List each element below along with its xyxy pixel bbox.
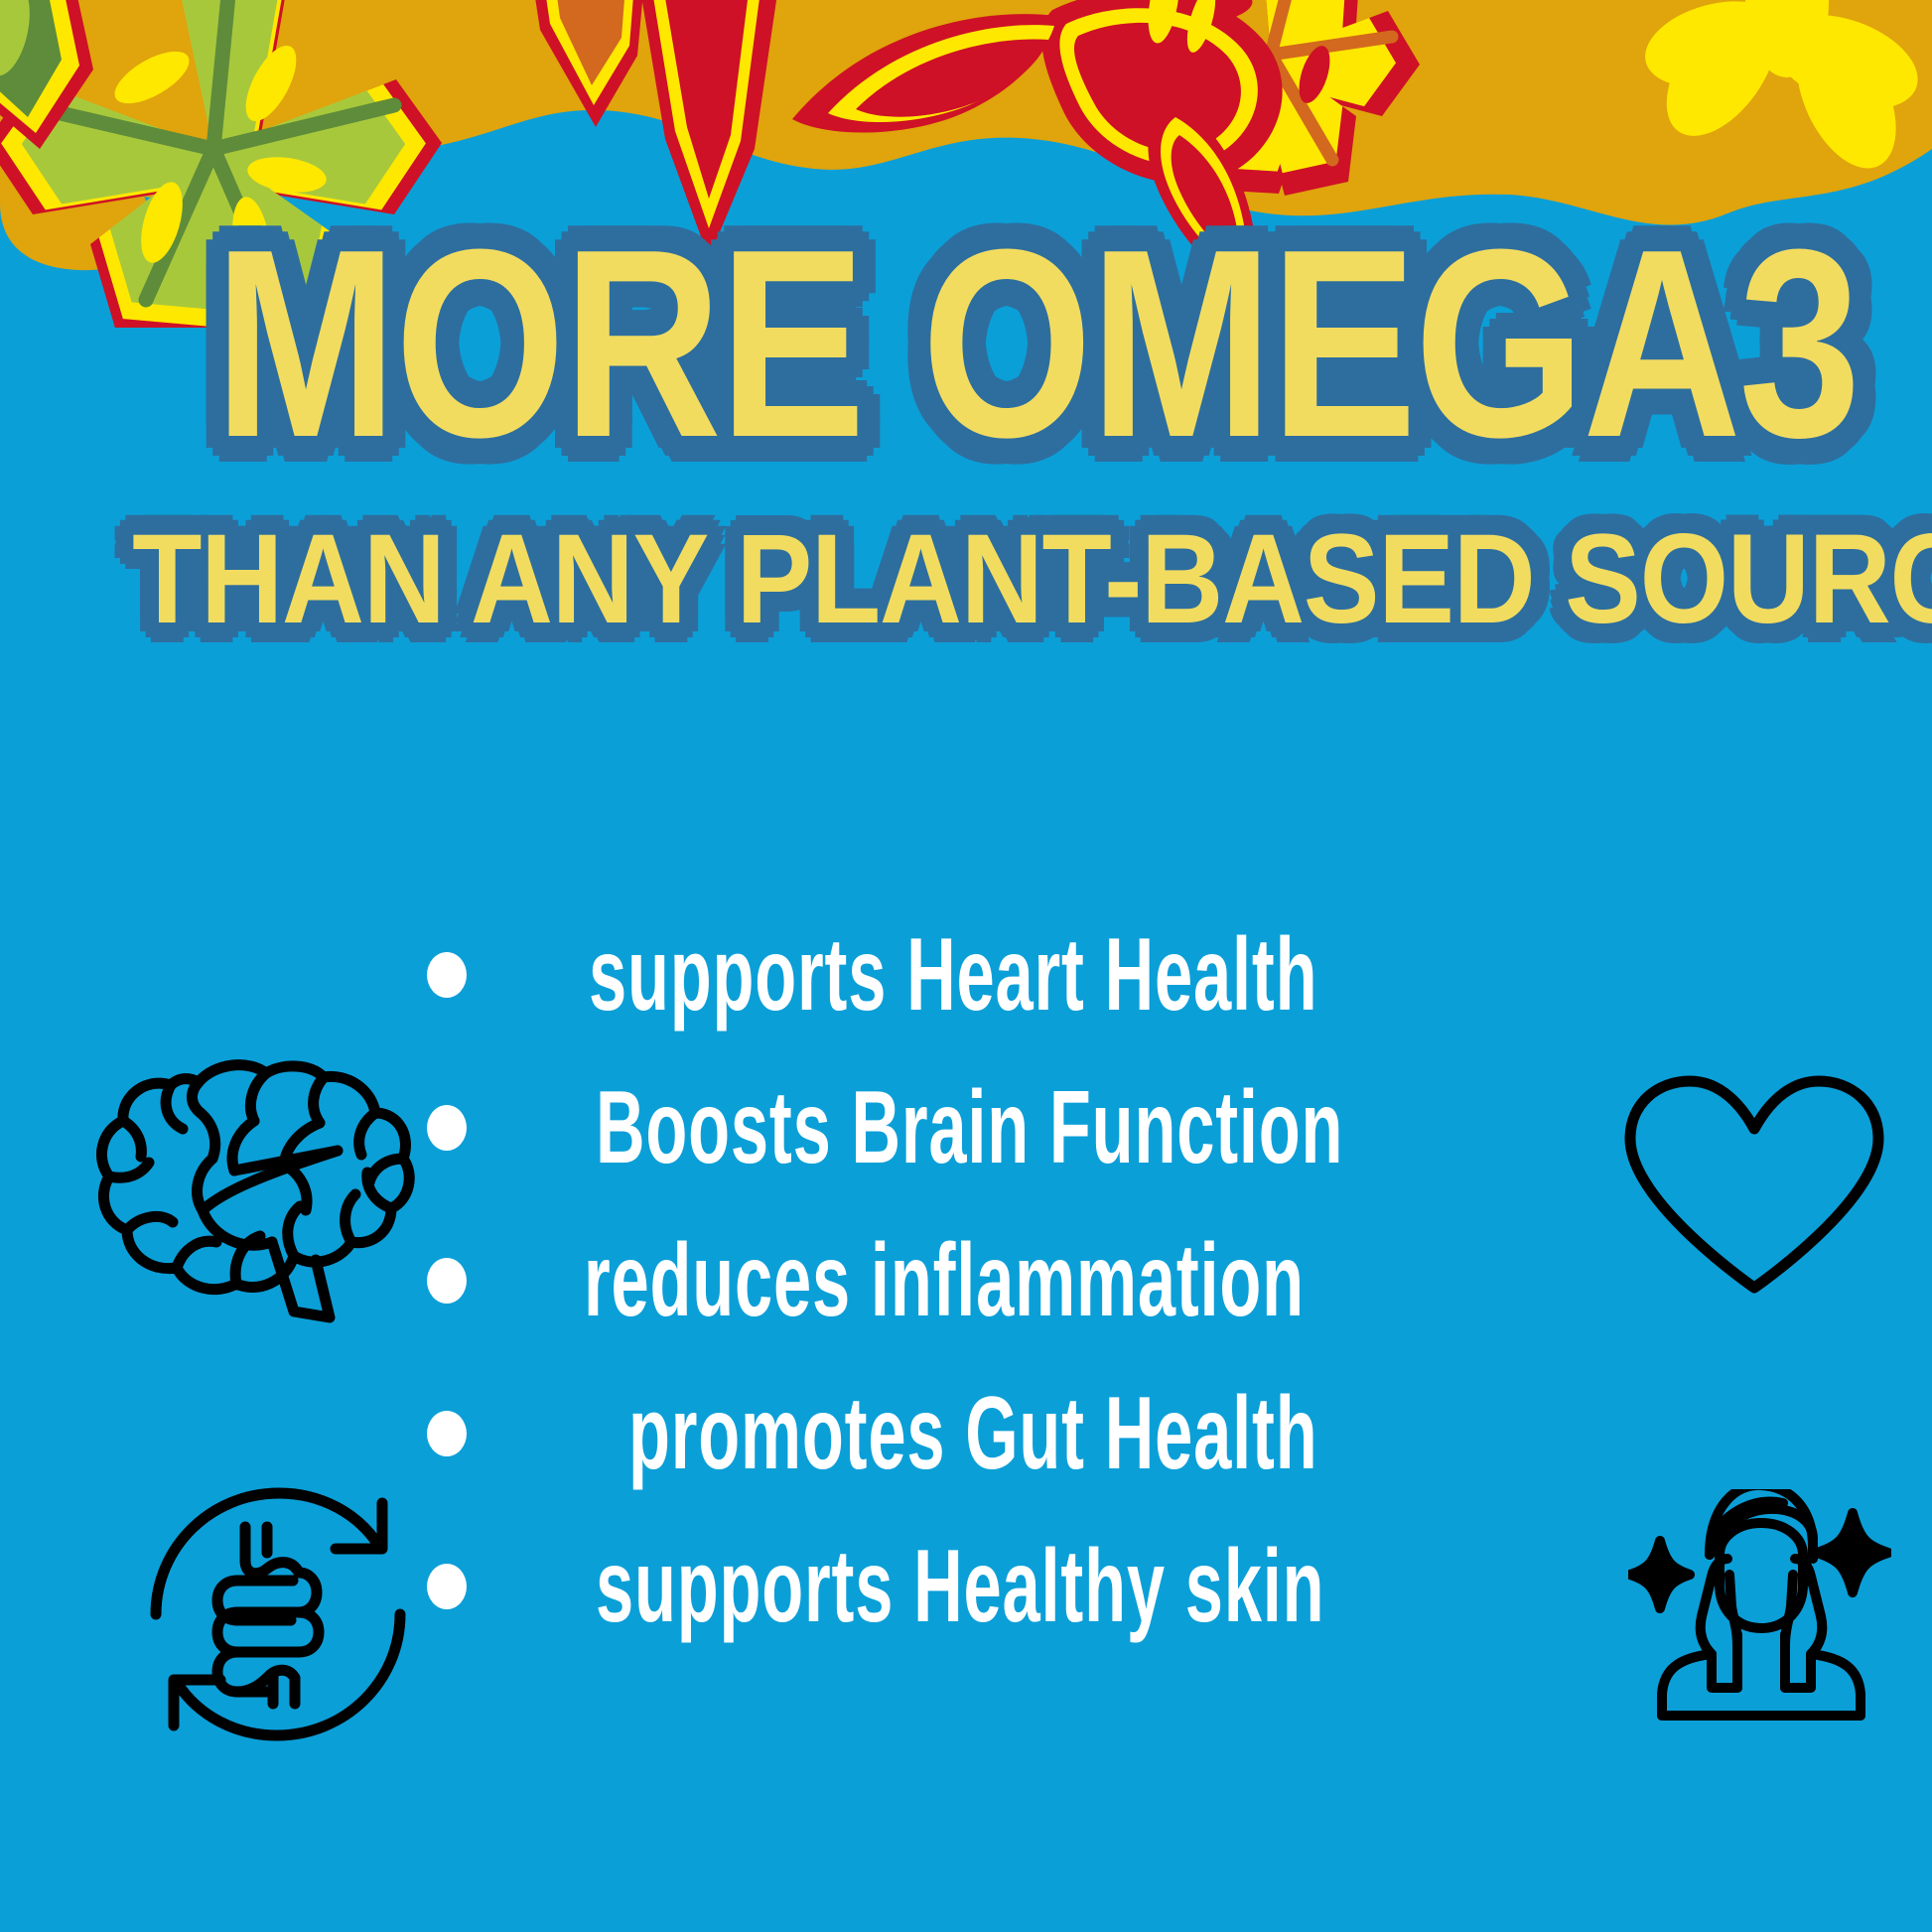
skin-care-icon [1628,1489,1891,1747]
benefit-label: supports Healthy skin [596,1535,1324,1638]
benefit-label: supports Heart Health [589,923,1317,1027]
brain-icon [87,1047,415,1335]
list-item: Boosts Brain Function [427,1051,1529,1204]
page-title: MORE OMEGA3 [0,210,1932,479]
headline-main: MORE OMEGA3 [187,210,1886,479]
benefit-label: reduces inflammation [584,1229,1305,1332]
bullet-dot-icon [427,1564,467,1609]
bullet-dot-icon [427,952,467,998]
bullet-dot-icon [427,1105,467,1151]
gut-icon [134,1469,422,1757]
bullet-dot-icon [427,1411,467,1456]
bullet-dot-icon [427,1258,467,1304]
page-subtitle: THAN ANY PLANT-BASED SOURCE [0,516,1932,643]
headline-sub: THAN ANY PLANT-BASED SOURCE [109,516,1932,643]
list-item: reduces inflammation [427,1204,1529,1357]
list-item: supports Heart Health [427,898,1529,1051]
heart-icon [1618,1067,1891,1301]
list-item: promotes Gut Health [427,1357,1529,1510]
omega3-benefits-poster: MORE OMEGA3 THAN ANY PLANT-BASED SOURCE … [0,0,1932,1932]
benefit-label: Boosts Brain Function [596,1076,1343,1179]
benefits-list: supports Heart Health Boosts Brain Funct… [427,898,1529,1663]
benefit-label: promotes Gut Health [628,1382,1317,1485]
list-item: supports Healthy skin [427,1510,1529,1663]
